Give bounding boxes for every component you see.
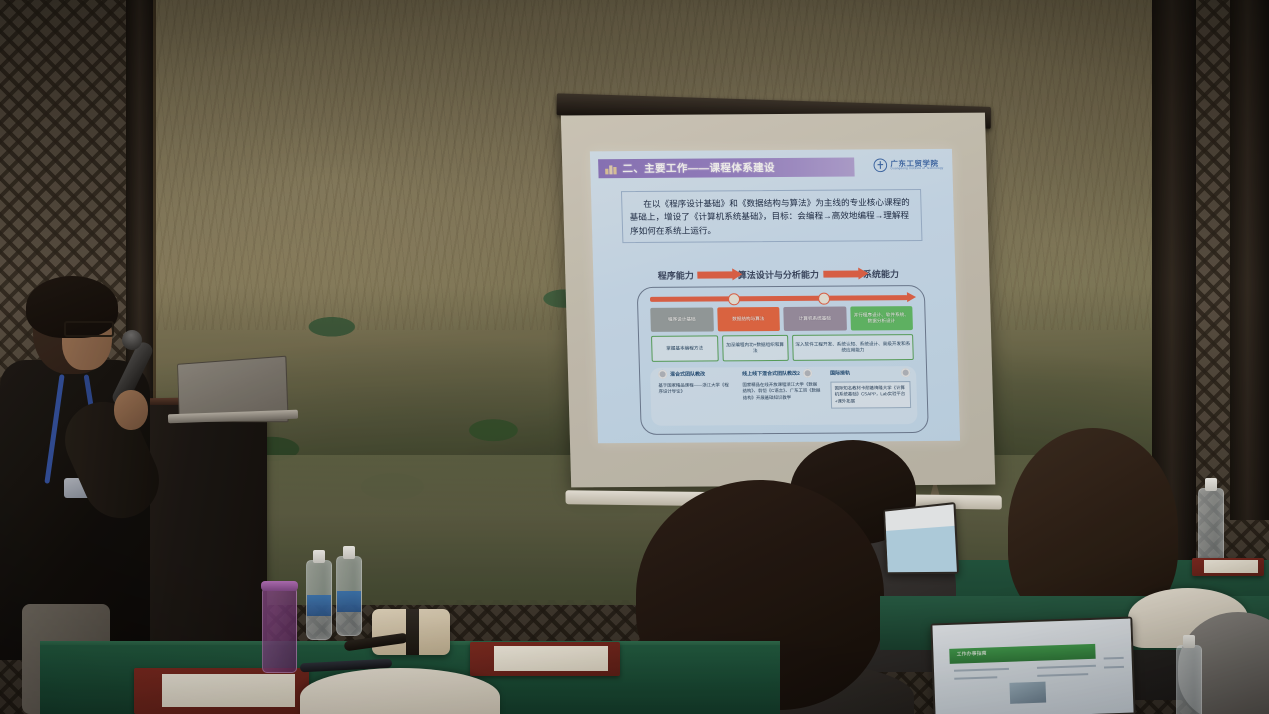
course-chip: 并行程序设计、软件系统、数据分析设计 [850,306,913,330]
measure-title: 线上线下混合式团队教改2 [742,370,800,377]
notepad-paper [1204,560,1259,573]
webpage-text-line [1037,673,1089,677]
slide-body-text: 在以《程序设计基础》和《数据结构与算法》为主线的专业核心课程的基础上，增设了《计… [629,196,914,238]
rail-node-icon [818,293,830,305]
building-icon [604,162,617,175]
goal-box: 加深编程内功+数据组织和算法 [722,335,789,361]
webpage-header-text: 工作办事指南 [956,649,986,657]
rail-node-icon [728,293,740,305]
webpage-text-line [1037,665,1096,669]
webpage-text-line [954,668,1009,672]
course-chip: 程序设计基础 [650,307,713,331]
measure-item: 国际接轨 国际知名教材卡耐基梅隆大学《计算机系统基础》CSAPP，Lab实验平台… [830,368,911,409]
measure-section: 混合式团队教改 基于国家精品课程——浙江大学《程序设计导论》 线上线下混合式团队… [650,366,918,426]
measure-text: 基于国家精品课程——浙江大学《程序设计导论》 [658,382,732,395]
notepad-folder [470,642,620,676]
capability-flow: 程序能力 算法设计与分析能力 系统能力 [633,267,923,282]
bottle-label [307,595,331,615]
flow-arrow-icon [823,270,859,277]
course-chip: 数据结构与算法 [717,307,780,331]
purple-tumbler [262,587,297,673]
course-chip: 计算机系统基础 [783,307,846,331]
slide-title-bar: 二、主要工作——课程体系建设 [598,157,855,178]
attendee-laptop-center[interactable] [883,502,959,574]
tumbler-lid [261,581,298,591]
flow-step-3: 系统能力 [863,267,899,280]
measure-title: 混合式团队教改 [670,370,705,377]
water-bottle [1176,645,1202,714]
projection-screen: 二、主要工作——课程体系建设 广东工贸学院 Guangdong Institut… [560,99,995,497]
goal-box: 深入软件工程开发、系统认知、系统设计、高级开发和系统应用能力 [792,334,914,361]
slide-body-box: 在以《程序设计基础》和《数据结构与算法》为主线的专业核心课程的基础上，增设了《计… [621,189,923,243]
university-logo: 广东工贸学院 Guangdong Institute of Technology [873,158,943,172]
presentation-slide: 二、主要工作——课程体系建设 广东工贸学院 Guangdong Institut… [590,149,960,443]
handbag-strap-band [406,609,418,655]
measure-text: 国际知名教材卡耐基梅隆大学《计算机系统基础》CSAPP，Lab实验平台+课外拓展 [830,381,911,409]
measure-item: 混合式团队教改 基于国家精品课程——浙江大学《程序设计导论》 [658,369,733,395]
webpage-thumbnail [1010,682,1046,704]
webpage-text-line [954,676,998,680]
measure-item: 线上线下混合式团队教改2 国家精品在线开放课程浙江大学《数据结构》、翁恺《C语言… [742,369,821,402]
flow-step-1: 程序能力 [658,269,694,282]
numbered-bullet-icon [803,369,812,378]
notepad-paper [494,646,608,670]
bottle-label [337,591,361,611]
course-chip-row: 程序设计基础 数据结构与算法 计算机系统基础 并行程序设计、软件系统、数据分析设… [650,306,913,332]
numbered-bullet-icon [658,370,667,379]
water-bottle [306,560,332,640]
goal-box-row: 掌握基本编程方法 加深编程内功+数据组织和算法 深入软件工程开发、系统认知、系统… [651,334,914,362]
water-bottle [1198,488,1224,568]
screen-canvas: 二、主要工作——课程体系建设 广东工贸学院 Guangdong Institut… [561,113,995,488]
logo-name-en: Guangdong Institute of Technology [890,167,943,170]
glasses-icon [64,321,114,337]
water-bottle [336,556,362,636]
flow-arrow-icon [698,271,734,278]
curriculum-diagram: 程序设计基础 数据结构与算法 计算机系统基础 并行程序设计、软件系统、数据分析设… [637,285,929,435]
webpage-text-line [1104,656,1124,659]
photo-scene: 二、主要工作——课程体系建设 广东工贸学院 Guangdong Institut… [0,0,1269,714]
presenter-hand [114,390,148,430]
goal-box: 掌握基本编程方法 [651,335,718,361]
attendee-laptop-right[interactable]: 工作办事指南 [930,617,1135,714]
numbered-bullet-icon [901,368,910,377]
webpage-header-bar: 工作办事指南 [949,644,1096,663]
notepad-folder [134,668,309,714]
university-emblem-icon [873,158,887,172]
notepad-folder [1192,558,1264,576]
measure-title: 国际接轨 [830,369,850,376]
slide-title: 二、主要工作——课程体系建设 [622,160,775,176]
webpage-text-line [1104,666,1124,669]
handbag [372,609,450,655]
flow-step-2: 算法设计与分析能力 [738,268,819,282]
measure-text: 国家精品在线开放课程浙江大学《数据结构》、翁恺《C语言》、广东工贸《数据结构》开… [742,382,821,402]
laptop-screen-center [885,504,957,572]
notepad-paper [162,674,295,707]
progress-rail [650,295,908,302]
laptop-screen-right: 工作办事指南 [932,619,1133,714]
